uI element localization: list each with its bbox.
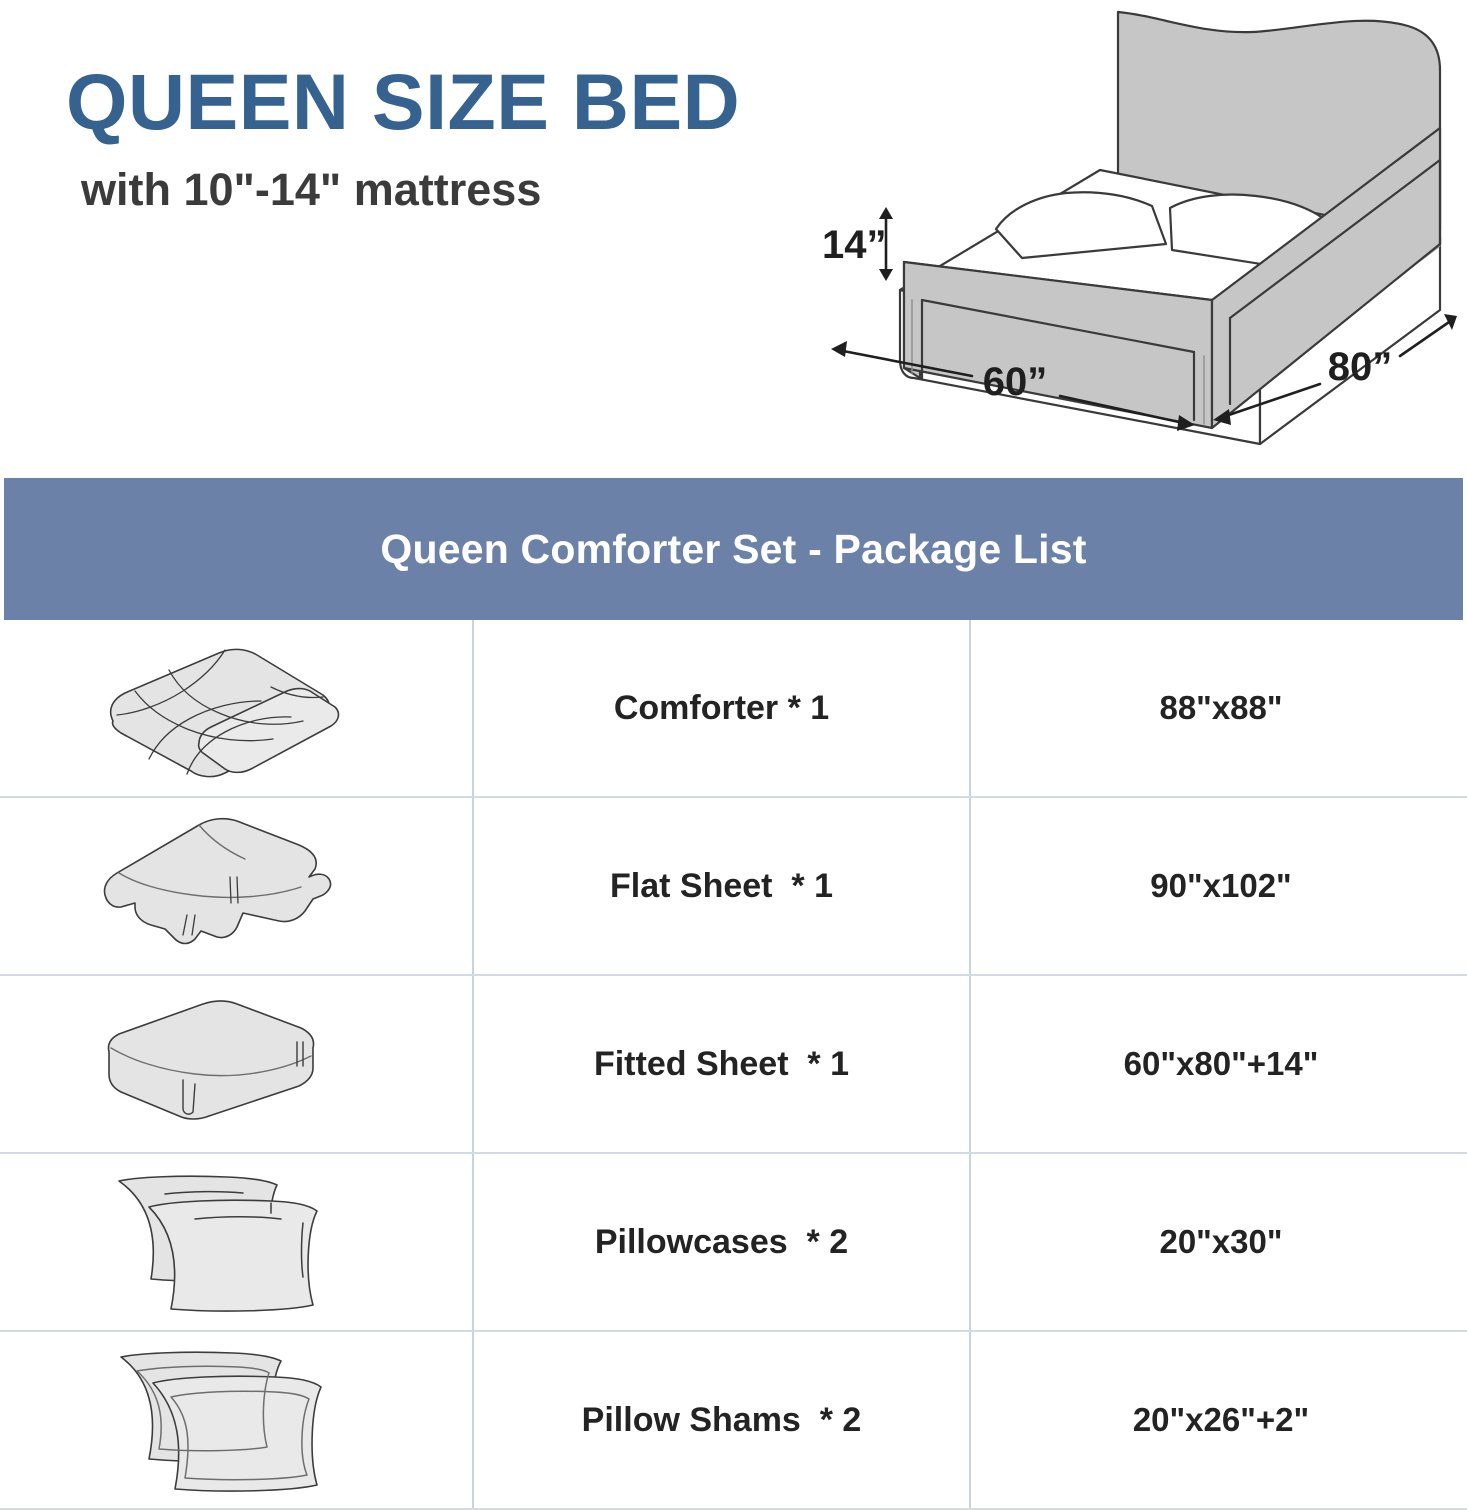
width-dimension-label: 60” bbox=[983, 360, 1048, 404]
item-icon-cell bbox=[0, 975, 473, 1153]
fitted-sheet-icon bbox=[91, 994, 381, 1134]
item-icon-cell bbox=[0, 1331, 473, 1509]
folded-comforter-icon bbox=[91, 633, 381, 783]
item-size-cell: 60"x80"+14" bbox=[970, 975, 1467, 1153]
height-dimension-label: 14” bbox=[822, 223, 887, 267]
pillowcases-icon bbox=[91, 1167, 381, 1317]
package-list-banner: Queen Comforter Set - Package List bbox=[4, 478, 1463, 620]
item-name-cell: Fitted Sheet * 1 bbox=[473, 975, 970, 1153]
table-row: Pillowcases * 2 20"x30" bbox=[0, 1153, 1467, 1331]
item-size-cell: 88"x88" bbox=[970, 620, 1467, 797]
header-section: QUEEN SIZE BED with 10"-14" mattress bbox=[0, 0, 1467, 470]
table-row: Comforter * 1 88"x88" bbox=[0, 620, 1467, 797]
item-icon-cell bbox=[0, 1153, 473, 1331]
item-size-cell: 20"x30" bbox=[970, 1153, 1467, 1331]
queen-bed-dimension-diagram: 14” 60” 80” bbox=[800, 0, 1467, 450]
package-list-table: Comforter * 1 88"x88" bbox=[0, 620, 1467, 1510]
package-list-title: Queen Comforter Set - Package List bbox=[380, 526, 1086, 573]
item-icon-cell bbox=[0, 620, 473, 797]
item-name-cell: Pillowcases * 2 bbox=[473, 1153, 970, 1331]
pillow-shams-icon bbox=[91, 1345, 381, 1495]
title-block: QUEEN SIZE BED with 10"-14" mattress bbox=[66, 62, 896, 212]
table-row: Pillow Shams * 2 20"x26"+2" bbox=[0, 1331, 1467, 1509]
page-title: QUEEN SIZE BED bbox=[66, 62, 896, 141]
flat-sheet-icon bbox=[91, 811, 381, 961]
item-size: 20"x26"+2" bbox=[1133, 1401, 1309, 1438]
item-icon-cell bbox=[0, 797, 473, 975]
item-name-cell: Comforter * 1 bbox=[473, 620, 970, 797]
item-size: 90"x102" bbox=[1150, 867, 1291, 904]
item-name: Fitted Sheet * 1 bbox=[594, 1045, 849, 1083]
item-name: Pillowcases * 2 bbox=[595, 1223, 848, 1261]
item-size: 88"x88" bbox=[1159, 689, 1282, 726]
item-name-cell: Pillow Shams * 2 bbox=[473, 1331, 970, 1509]
item-size: 60"x80"+14" bbox=[1124, 1045, 1319, 1082]
item-name: Comforter * 1 bbox=[614, 689, 829, 727]
table-row: Fitted Sheet * 1 60"x80"+14" bbox=[0, 975, 1467, 1153]
item-name-cell: Flat Sheet * 1 bbox=[473, 797, 970, 975]
item-name: Pillow Shams * 2 bbox=[582, 1401, 862, 1439]
item-size-cell: 20"x26"+2" bbox=[970, 1331, 1467, 1509]
item-name: Flat Sheet * 1 bbox=[610, 867, 833, 905]
length-dimension-label: 80” bbox=[1328, 345, 1393, 389]
item-size: 20"x30" bbox=[1159, 1223, 1282, 1260]
table-row: Flat Sheet * 1 90"x102" bbox=[0, 797, 1467, 975]
page-subtitle: with 10"-14" mattress bbox=[81, 167, 896, 212]
item-size-cell: 90"x102" bbox=[970, 797, 1467, 975]
